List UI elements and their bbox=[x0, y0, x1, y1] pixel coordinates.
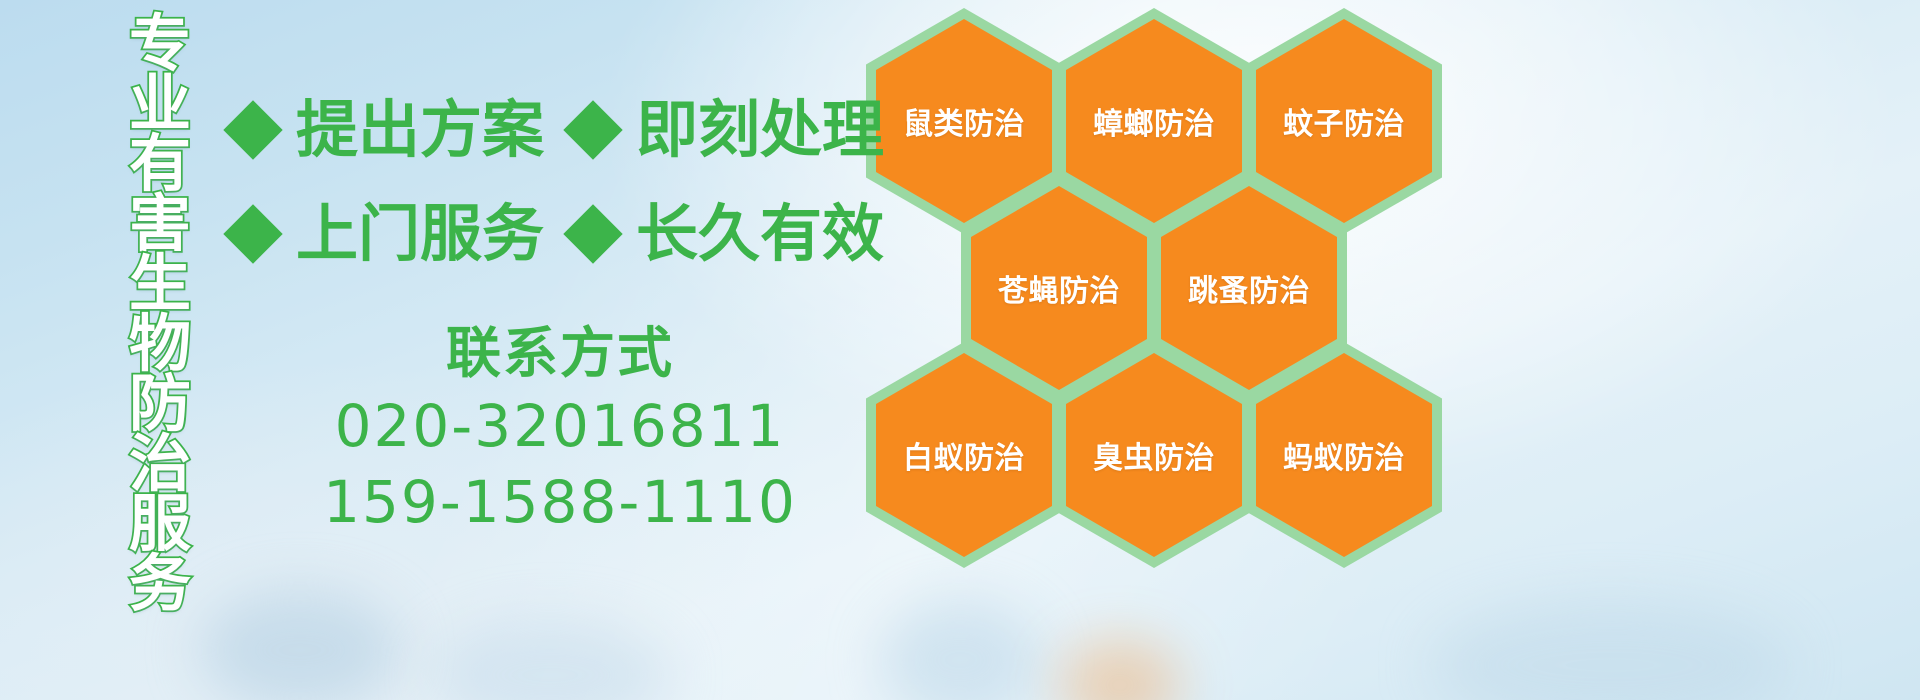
contact-block: 联系方式 020-32016811 159-1588-1110 bbox=[300, 318, 820, 540]
hex-label: 白蚁防治 bbox=[903, 433, 1025, 477]
hex-label: 鼠类防治 bbox=[903, 99, 1025, 143]
hex-inner: 跳蚤防治 bbox=[1161, 186, 1337, 390]
hex-inner: 蚊子防治 bbox=[1256, 19, 1432, 223]
service-honeycomb: 鼠类防治 蟑螂防治 蚊子防治 苍蝇防治 跳蚤防治 白蚁防治 bbox=[858, 0, 1478, 560]
vertical-title-char: 业 bbox=[129, 74, 191, 134]
hex-inner: 鼠类防治 bbox=[876, 19, 1052, 223]
hex-inner: 苍蝇防治 bbox=[971, 186, 1147, 390]
slogan-text: 长久有效 bbox=[636, 202, 884, 266]
vertical-title-char: 专 bbox=[129, 14, 191, 74]
hex-inner: 白蚁防治 bbox=[876, 353, 1052, 557]
hex-label: 蚂蚁防治 bbox=[1283, 433, 1405, 477]
diamond-icon bbox=[223, 204, 282, 263]
vertical-title: 专 业 有 害 生 物 防 治 服 务 bbox=[108, 14, 212, 562]
background-blur-shape bbox=[880, 600, 1040, 700]
hex-label: 蚊子防治 bbox=[1283, 99, 1405, 143]
vertical-title-char: 防 bbox=[129, 374, 191, 434]
slogan-text: 提出方案 bbox=[296, 98, 544, 162]
hex-label: 蟑螂防治 bbox=[1093, 99, 1215, 143]
hex-inner: 臭虫防治 bbox=[1066, 353, 1242, 557]
hex-inner: 蚂蚁防治 bbox=[1256, 353, 1432, 557]
slogan-row: 上门服务 长久有效 bbox=[228, 182, 868, 286]
vertical-title-char: 务 bbox=[129, 554, 191, 614]
phone-number-mobile[interactable]: 159-1588-1110 bbox=[300, 464, 820, 540]
diamond-icon bbox=[223, 100, 282, 159]
background-blur-shape bbox=[1430, 600, 1790, 700]
diamond-icon bbox=[563, 100, 622, 159]
vertical-title-char: 服 bbox=[129, 494, 191, 554]
background-blur-shape bbox=[430, 620, 670, 700]
hex-label: 臭虫防治 bbox=[1093, 433, 1215, 477]
background-blur-shape bbox=[1060, 640, 1180, 700]
vertical-title-char: 治 bbox=[129, 434, 191, 494]
vertical-title-char: 物 bbox=[129, 314, 191, 374]
phone-number-landline[interactable]: 020-32016811 bbox=[300, 388, 820, 464]
vertical-title-char: 生 bbox=[129, 254, 191, 314]
slogan-text: 即刻处理 bbox=[636, 98, 884, 162]
contact-title: 联系方式 bbox=[300, 318, 820, 388]
diamond-icon bbox=[563, 204, 622, 263]
hex-inner: 蟑螂防治 bbox=[1066, 19, 1242, 223]
slogan-row: 提出方案 即刻处理 bbox=[228, 78, 868, 182]
pest-control-banner: 专 业 有 害 生 物 防 治 服 务 提出方案 即刻处理 上门服务 长久有效 … bbox=[0, 0, 1920, 700]
slogan-text: 上门服务 bbox=[296, 202, 544, 266]
vertical-title-char: 有 bbox=[129, 134, 191, 194]
slogan-block: 提出方案 即刻处理 上门服务 长久有效 bbox=[228, 78, 868, 286]
vertical-title-char: 害 bbox=[129, 194, 191, 254]
background-blur-shape bbox=[200, 590, 400, 700]
hex-label: 苍蝇防治 bbox=[998, 266, 1120, 310]
hex-label: 跳蚤防治 bbox=[1188, 266, 1310, 310]
